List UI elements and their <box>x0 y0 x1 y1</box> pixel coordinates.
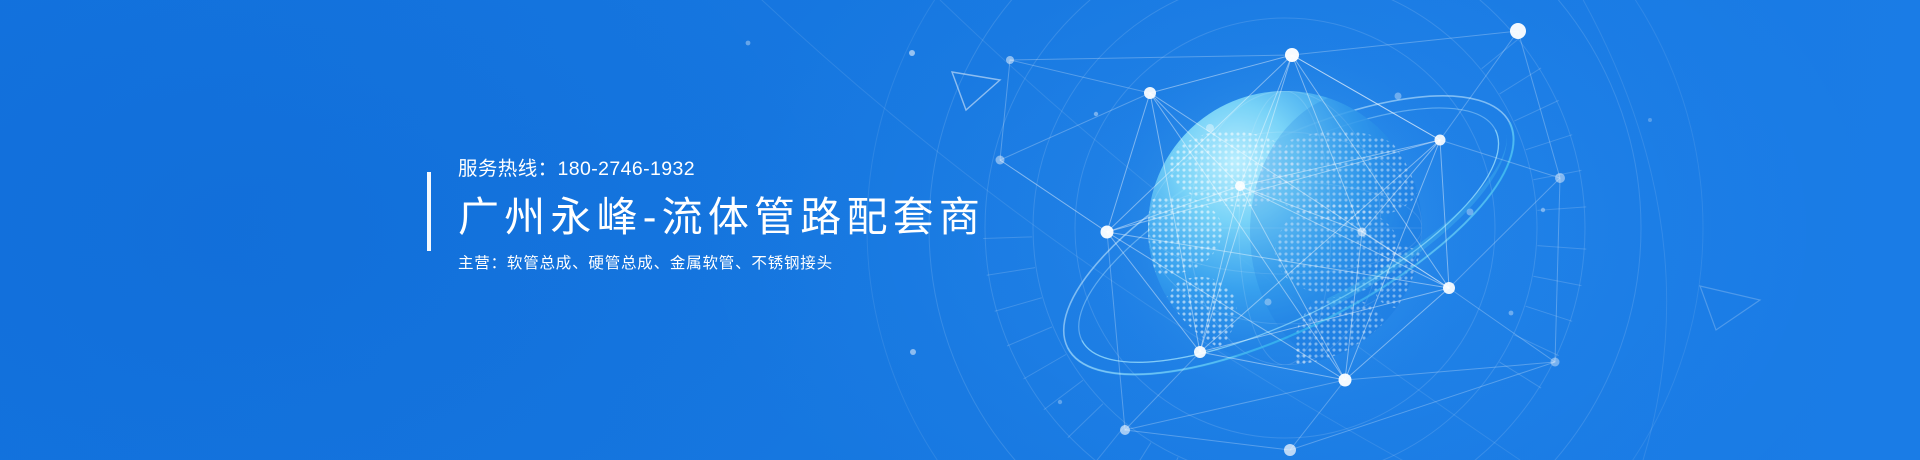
triangle-marker-secondary <box>1700 286 1760 330</box>
banner-subtitle: 主营：软管总成、硬管总成、金属软管、不锈钢接头 <box>458 256 985 272</box>
banner-text-block: 服务热线：180-2746-1932 广州永峰-流体管路配套商 主营：软管总成、… <box>427 160 985 271</box>
banner-headline: 广州永峰-流体管路配套商 <box>458 195 985 239</box>
service-hotline: 服务热线：180-2746-1932 <box>458 160 985 180</box>
promo-banner: 服务热线：180-2746-1932 广州永峰-流体管路配套商 主营：软管总成、… <box>0 0 1920 460</box>
triangle-marker <box>952 72 1000 110</box>
